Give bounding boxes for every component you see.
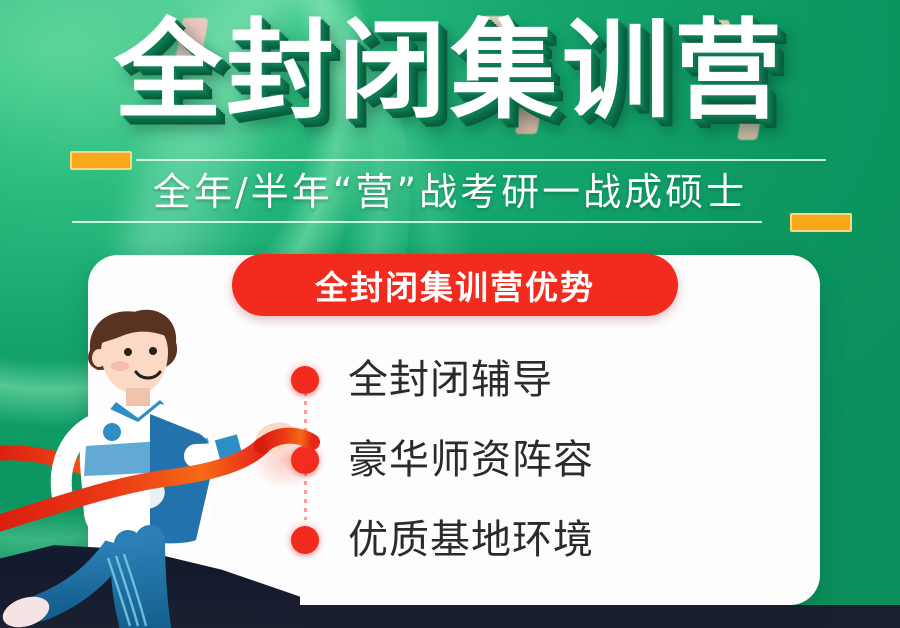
runner-cuff — [218, 446, 240, 452]
advantages-list: 全封闭辅导 豪华师资阵容 优质基地环境 — [280, 348, 760, 578]
runner-ear — [92, 349, 106, 367]
promo-poster: 全封闭集训营 全年/半年“营”战考研一战成硕士 全封闭集训营优势 全封闭辅导 豪 — [0, 0, 900, 628]
runner-illustration — [0, 296, 320, 628]
advantages-banner-label: 全封闭集训营优势 — [315, 261, 595, 309]
advantage-label: 豪华师资阵容 — [348, 436, 594, 484]
title-block: 全封闭集训营 — [0, 6, 900, 146]
subtitle-rule-bottom — [72, 221, 762, 223]
runner-cheek — [111, 361, 129, 371]
list-item: 优质基地环境 — [280, 516, 760, 564]
poster-title: 全封闭集训营 — [114, 6, 786, 138]
list-item: 全封闭辅导 — [280, 356, 760, 404]
advantage-label: 全封闭辅导 — [348, 356, 553, 404]
runner-front-leg — [150, 540, 156, 628]
list-item: 豪华师资阵容 — [280, 436, 760, 484]
subtitle-rule-top — [136, 159, 826, 161]
runner-eye-left — [124, 348, 132, 356]
runner-back-leg — [40, 546, 118, 608]
poster-subtitle: 全年/半年“营”战考研一战成硕士 — [0, 166, 900, 218]
runner-jacket-badge — [103, 423, 121, 441]
runner-eye-right — [149, 347, 157, 355]
runner-neck — [126, 388, 150, 406]
advantage-label: 优质基地环境 — [348, 516, 594, 564]
subtitle-block: 全年/半年“营”战考研一战成硕士 — [0, 148, 900, 234]
